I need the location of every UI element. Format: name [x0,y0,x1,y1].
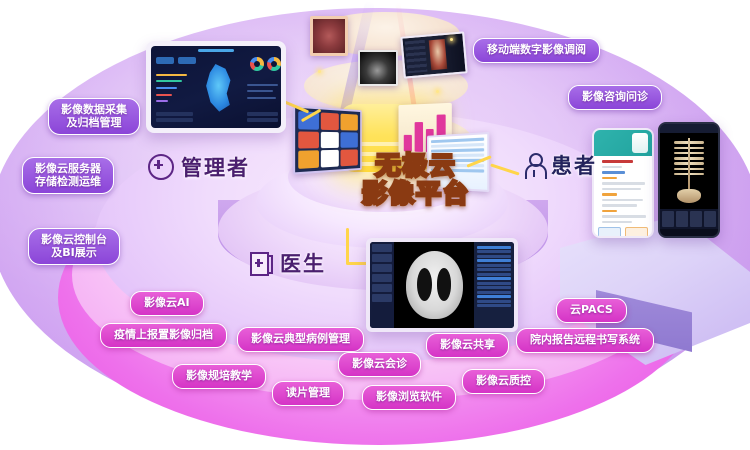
plus-circle-icon [148,154,174,180]
pill-doctor-11[interactable]: 院内报告远程书写系统 [516,328,654,353]
pill-admin-2-line1: 影像云服务器 [35,162,101,175]
pill-admin-3-line1: 影像云控制台 [41,233,107,246]
pill-admin-1-line1: 影像数据采集 [61,103,127,116]
ct-image-panel [400,31,467,78]
pill-doctor-1[interactable]: 影像云AI [130,291,204,316]
pacs-ct-viewer-workstation [366,238,518,332]
role-patient[interactable]: 患者 [524,150,597,180]
pill-doctor-9[interactable]: 影像云质控 [462,369,545,394]
pill-doctor-9-label: 影像云质控 [476,374,531,387]
pill-admin-2[interactable]: 影像云服务器 存储检测运维 [22,157,114,194]
role-administrator[interactable]: 管理者 [148,152,250,182]
pill-doctor-6[interactable]: 影像浏览软件 [362,385,456,410]
bi-dashboard-tablet [146,41,286,133]
pill-doctor-2[interactable]: 疫情上报置影像归档 [100,323,227,348]
pill-admin-3-line2: 及BI展示 [51,246,96,259]
document-plus-icon [250,252,273,274]
role-doctor[interactable]: 医生 [250,248,326,278]
role-label-patient: 患者 [551,150,597,180]
title-line-2: 影像平台 [326,180,506,208]
title-line-1: 无极云 [326,152,506,180]
pill-patient-1-label: 移动端数字影像调阅 [487,43,586,56]
pill-doctor-10-label: 云PACS [570,303,613,316]
pill-doctor-8[interactable]: 影像云共享 [426,333,509,358]
role-label-doctor: 医生 [280,248,326,278]
pill-doctor-2-label: 疫情上报置影像归档 [114,328,213,341]
connector-doctor [346,228,349,264]
pill-doctor-4-label: 影像规培教学 [186,369,252,382]
pill-doctor-5[interactable]: 读片管理 [272,381,344,406]
pill-doctor-7-label: 影像云会诊 [352,357,407,370]
person-icon [524,153,544,177]
pill-doctor-5-label: 读片管理 [286,386,330,399]
pill-doctor-1-label: 影像云AI [144,296,190,309]
pill-admin-1-line2: 及归档管理 [67,116,122,129]
role-label-admin: 管理者 [181,152,250,182]
pill-admin-1[interactable]: 影像数据采集 及归档管理 [48,98,140,135]
pill-doctor-4[interactable]: 影像规培教学 [172,364,266,389]
pill-doctor-3[interactable]: 影像云典型病例管理 [237,327,364,352]
3d-skeleton-viewer-phone [658,122,720,238]
pill-doctor-10[interactable]: 云PACS [556,298,627,323]
pill-doctor-11-label: 院内报告远程书写系统 [530,333,640,346]
ultrasound-image-panel [358,50,398,86]
pill-doctor-7[interactable]: 影像云会诊 [338,352,421,377]
patient-consult-phone [592,128,654,238]
endoscopy-image-panel [310,16,348,56]
pill-doctor-8-label: 影像云共享 [440,338,495,351]
pill-admin-2-line2: 存储检测运维 [35,175,101,188]
page-title: 无极云 影像平台 [326,152,506,207]
pill-patient-1[interactable]: 移动端数字影像调阅 [473,38,600,63]
pill-admin-3[interactable]: 影像云控制台 及BI展示 [28,228,120,265]
pill-patient-2[interactable]: 影像咨询问诊 [568,85,662,110]
pill-doctor-6-label: 影像浏览软件 [376,390,442,403]
pill-doctor-3-label: 影像云典型病例管理 [251,332,350,345]
infographic-canvas: 管理者 患者 医生 无极云 影像平台 影像数据采集 及归档管理 影像云服务器 存… [0,0,750,450]
pill-patient-2-label: 影像咨询问诊 [582,90,648,103]
